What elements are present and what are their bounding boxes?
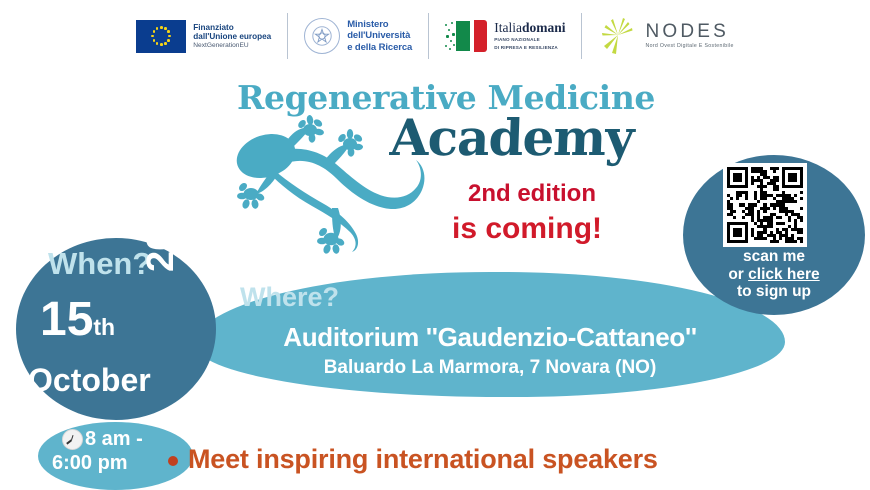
nodes-name: NODES bbox=[645, 22, 733, 41]
eu-flag-icon bbox=[136, 20, 186, 53]
italiadomani-logo-text: Italiadomani PIANO NAZIONALE DI RIPRESA … bbox=[494, 21, 565, 51]
coming-soon-label: is coming! bbox=[452, 212, 602, 246]
nodes-logo-text: NODES Nord Ovest Digitale E Sostenibile bbox=[645, 22, 733, 49]
eu-line1: Finanziato bbox=[193, 23, 271, 32]
italiadomani-sub1: PIANO NAZIONALE bbox=[494, 37, 565, 43]
event-month: October bbox=[28, 362, 151, 399]
event-year: 2025 bbox=[140, 187, 183, 272]
italian-flag-icon bbox=[445, 20, 487, 52]
venue-address: Baluardo La Marmora, 7 Novara (NO) bbox=[195, 357, 785, 379]
event-time-line1-row: 8 am - bbox=[62, 428, 143, 451]
event-time-line2: 6:00 pm bbox=[52, 452, 128, 475]
funder-logo-bar: Finanziato dall'Unione europea NextGener… bbox=[0, 0, 870, 72]
logo-italiadomani: Italiadomani PIANO NAZIONALE DI RIPRESA … bbox=[429, 12, 581, 60]
page-title-line2: Academy bbox=[389, 108, 634, 167]
italiadomani-part1: Italia bbox=[494, 20, 522, 35]
event-day-number: 15 bbox=[40, 293, 93, 346]
nodes-subtitle: Nord Ovest Digitale E Sostenibile bbox=[645, 44, 733, 49]
qr-line3: to sign up bbox=[683, 283, 865, 301]
event-time-line1: 8 am - bbox=[85, 428, 143, 451]
bullet-dot-icon bbox=[168, 456, 178, 466]
logo-eu: Finanziato dall'Unione europea NextGener… bbox=[120, 12, 287, 60]
eu-line3: NextGenerationEU bbox=[193, 42, 271, 49]
qr-line2: or click here bbox=[683, 266, 865, 284]
ministero-line3: e della Ricerca bbox=[347, 42, 412, 53]
qr-line1: scan me bbox=[683, 248, 865, 266]
qr-caption: scan me or click here to sign up bbox=[683, 248, 865, 301]
poster-canvas: Finanziato dall'Unione europea NextGener… bbox=[0, 0, 870, 490]
venue-name: Auditorium ''Gaudenzio-Cattaneo'' bbox=[195, 322, 785, 353]
nodes-star-icon bbox=[598, 16, 638, 56]
logo-ministero: Ministero dell'Università e della Ricerc… bbox=[288, 12, 428, 60]
eu-line2: dall'Unione europea bbox=[193, 32, 271, 41]
ministero-logo-text: Ministero dell'Università e della Ricerc… bbox=[347, 19, 412, 52]
event-day-suffix: th bbox=[93, 314, 115, 340]
when-label: When? bbox=[48, 246, 151, 282]
italian-republic-emblem-icon bbox=[304, 18, 340, 54]
event-day: 15th bbox=[40, 296, 115, 344]
clock-icon bbox=[62, 429, 83, 450]
sign-up-link[interactable]: click here bbox=[748, 266, 820, 283]
italiadomani-sub2: DI RIPRESA E RESILIENZA bbox=[494, 45, 565, 51]
ministero-line2: dell'Università bbox=[347, 30, 412, 41]
ministero-line1: Ministero bbox=[347, 19, 412, 30]
italiadomani-name: Italiadomani bbox=[494, 21, 565, 35]
italiadomani-part2: domani bbox=[522, 20, 566, 35]
qr-line2-prefix: or bbox=[728, 266, 748, 283]
qr-code-icon[interactable] bbox=[723, 163, 807, 247]
tagline-text: Meet inspiring international speakers bbox=[188, 444, 658, 475]
eu-logo-text: Finanziato dall'Unione europea NextGener… bbox=[193, 23, 271, 50]
logo-nodes: NODES Nord Ovest Digitale E Sostenibile bbox=[582, 12, 749, 60]
where-label: Where? bbox=[240, 282, 339, 313]
edition-label: 2nd edition bbox=[468, 180, 596, 208]
